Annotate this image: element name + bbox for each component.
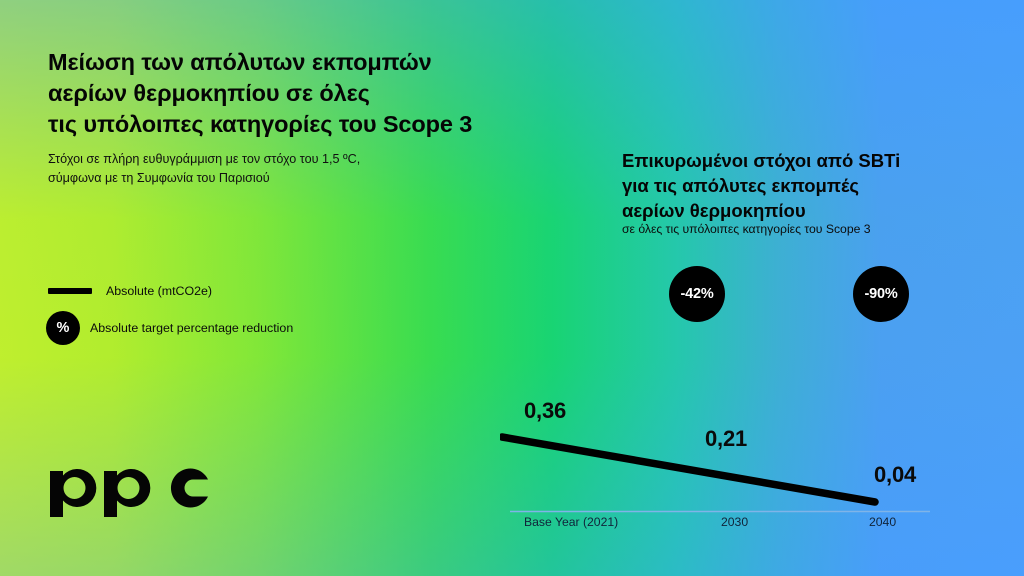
legend-percent-reduction: % Absolute target percentage reduction [46,311,293,345]
data-label-2040: 0,04 [874,462,916,488]
logo-letter-p2 [104,469,150,517]
axis-tick-base-year: Base Year (2021) [524,515,618,529]
data-label-2030: 0,21 [705,426,747,452]
title-line-2: αερίων θερμοκηπίου σε όλες [48,78,568,109]
title-line-3: τις υπόλοιπες κατηγορίες του Scope 3 [48,109,568,140]
axis-tick-2030: 2030 [721,515,748,529]
subtitle-line-2: σύμφωνα με τη Συμφωνία του Παρισιού [48,169,478,188]
chart-series-line [502,437,875,502]
right-heading-line-1: Επικυρωμένοι στόχοι από SBTi [622,148,982,173]
title-line-1: Μείωση των απόλυτων εκπομπών [48,47,568,78]
status-badge-2030: -42% [669,266,725,322]
logo-letter-c [171,469,208,508]
legend-percent-label: Absolute target percentage reduction [90,321,293,335]
line-swatch-icon [48,288,92,294]
data-label-base-year: 0,36 [524,398,566,424]
page-subtitle: Στόχοι σε πλήρη ευθυγράμμιση με τον στόχ… [48,150,478,188]
right-heading: Επικυρωμένοι στόχοι από SBTi για τις από… [622,148,982,223]
legend-absolute: Absolute (mtCO2e) [48,284,212,298]
axis-tick-2040: 2040 [869,515,896,529]
percent-badge-icon: % [46,311,80,345]
subtitle-line-1: Στόχοι σε πλήρη ευθυγράμμιση με τον στόχ… [48,150,478,169]
status-badge-2040: -90% [853,266,909,322]
right-heading-line-2: για τις απόλυτες εκπομπές [622,173,982,198]
ppc-logo [48,455,210,517]
page-title: Μείωση των απόλυτων εκπομπών αερίων θερμ… [48,47,568,140]
legend-absolute-label: Absolute (mtCO2e) [106,284,212,298]
slide-root: Μείωση των απόλυτων εκπομπών αερίων θερμ… [0,0,1024,576]
right-heading-line-3: αερίων θερμοκηπίου [622,198,982,223]
logo-letter-p1 [50,469,96,517]
right-heading-sub: σε όλες τις υπόλοιπες κατηγορίες του Sco… [622,221,992,238]
